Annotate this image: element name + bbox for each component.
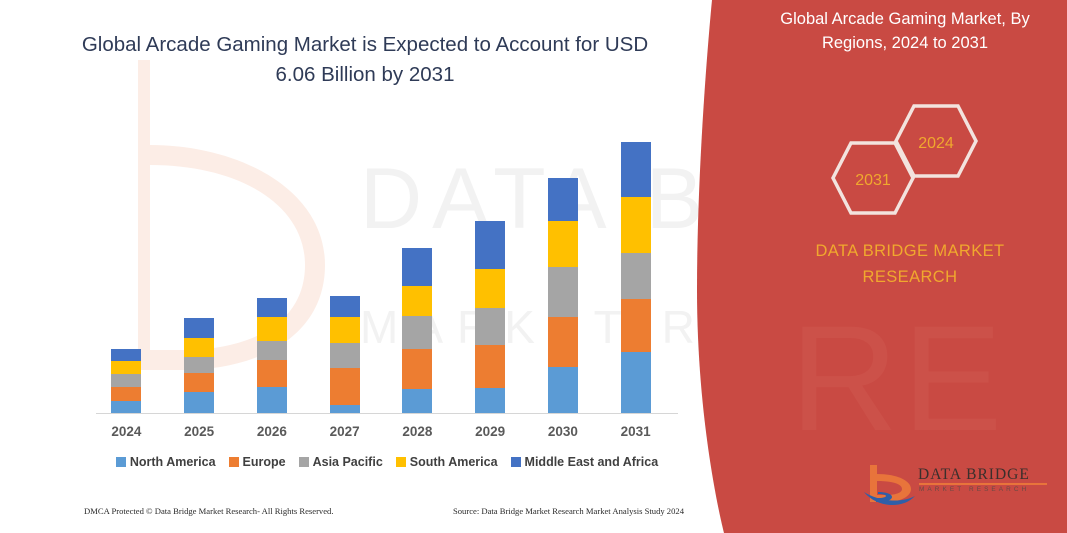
bar-segment xyxy=(548,178,578,221)
bar-segment xyxy=(184,338,214,358)
footer-copyright: DMCA Protected © Data Bridge Market Rese… xyxy=(84,506,334,516)
legend-item[interactable]: South America xyxy=(396,455,498,469)
legend-label: Asia Pacific xyxy=(313,455,383,469)
bar-segment xyxy=(475,308,505,345)
bar-segment xyxy=(475,269,505,308)
databridge-b-logo-icon xyxy=(862,462,918,512)
bar-segment xyxy=(184,392,214,414)
bar-segment xyxy=(475,345,505,387)
bar-stack xyxy=(402,248,432,414)
legend-item[interactable]: Europe xyxy=(229,455,286,469)
bar-segment xyxy=(548,267,578,317)
infographic-root: DATA BRIDGE MARKET RESEARCH Global Arcad… xyxy=(0,0,1067,533)
bar-stack xyxy=(257,298,287,414)
bar-segment xyxy=(330,368,360,405)
bar-segment xyxy=(548,317,578,367)
hexagon-2024-label: 2024 xyxy=(893,135,979,153)
x-axis-label: 2029 xyxy=(460,424,520,439)
legend-swatch xyxy=(299,457,309,467)
hexagon-2024: 2024 xyxy=(893,103,979,184)
bar-segment xyxy=(330,317,360,343)
bar-segment xyxy=(257,360,287,386)
bar-segment xyxy=(257,341,287,361)
bar-stack xyxy=(111,349,141,414)
legend-swatch xyxy=(116,457,126,467)
bar-segment xyxy=(621,352,651,414)
bar-segment xyxy=(402,389,432,414)
bar-segment xyxy=(621,142,651,198)
bar-segment xyxy=(402,248,432,285)
legend-item[interactable]: North America xyxy=(116,455,216,469)
x-axis-label: 2030 xyxy=(533,424,593,439)
bar-segment xyxy=(330,296,360,317)
bar-segment xyxy=(402,286,432,316)
legend-item[interactable]: Asia Pacific xyxy=(299,455,383,469)
bar-segment xyxy=(111,374,141,387)
legend-swatch xyxy=(396,457,406,467)
chart-title: Global Arcade Gaming Market is Expected … xyxy=(60,30,670,89)
bar-stack xyxy=(548,178,578,414)
bar-segment xyxy=(111,387,141,402)
bar-stack xyxy=(184,318,214,414)
bar-segment xyxy=(330,343,360,368)
panel-title: Global Arcade Gaming Market, By Regions,… xyxy=(755,8,1055,56)
logo-name: DATA BRIDGE xyxy=(918,466,1030,484)
x-axis-label: 2028 xyxy=(387,424,447,439)
legend-label: Europe xyxy=(243,455,286,469)
x-axis-line xyxy=(96,413,678,414)
x-axis-label: 2024 xyxy=(96,424,156,439)
bar-segment xyxy=(402,316,432,349)
bar-segment xyxy=(475,388,505,414)
footer-source: Source: Data Bridge Market Research Mark… xyxy=(453,506,684,516)
bar-segment xyxy=(621,253,651,299)
bar-segment xyxy=(111,361,141,374)
legend-swatch xyxy=(511,457,521,467)
legend-item[interactable]: Middle East and Africa xyxy=(511,455,659,469)
footer: DMCA Protected © Data Bridge Market Rese… xyxy=(84,506,684,516)
bar-segment xyxy=(548,367,578,414)
bar-segment xyxy=(548,221,578,267)
bar-segment xyxy=(402,349,432,388)
x-axis-label: 2031 xyxy=(606,424,666,439)
legend-swatch xyxy=(229,457,239,467)
bar-stack xyxy=(475,221,505,414)
x-axis-label: 2027 xyxy=(315,424,375,439)
bar-stack xyxy=(621,142,651,414)
legend-label: North America xyxy=(130,455,216,469)
bar-segment xyxy=(475,221,505,269)
x-axis-label: 2025 xyxy=(169,424,229,439)
bar-segment xyxy=(621,197,651,253)
bar-segment xyxy=(184,357,214,373)
bar-segment xyxy=(184,318,214,338)
brand-text: DATA BRIDGE MARKET RESEARCH xyxy=(790,238,1030,291)
bar-segment xyxy=(184,373,214,393)
legend-label: Middle East and Africa xyxy=(525,455,659,469)
x-axis-labels: 20242025202620272028202920302031 xyxy=(96,424,678,444)
legend-label: South America xyxy=(410,455,498,469)
chart-legend: North AmericaEuropeAsia PacificSouth Ame… xyxy=(96,455,678,469)
x-axis-label: 2026 xyxy=(242,424,302,439)
logo-subtitle: MARKET RESEARCH xyxy=(919,486,1029,493)
bar-segment xyxy=(621,299,651,352)
databridge-logo: DATA BRIDGE MARKET RESEARCH xyxy=(862,462,1052,512)
bar-segment xyxy=(257,298,287,317)
bar-segment xyxy=(111,349,141,361)
bar-segment xyxy=(257,387,287,414)
bar-stack xyxy=(330,296,360,414)
chart-plot-area xyxy=(96,120,676,414)
svg-text:RE: RE xyxy=(790,294,1006,462)
bar-segment xyxy=(257,317,287,341)
